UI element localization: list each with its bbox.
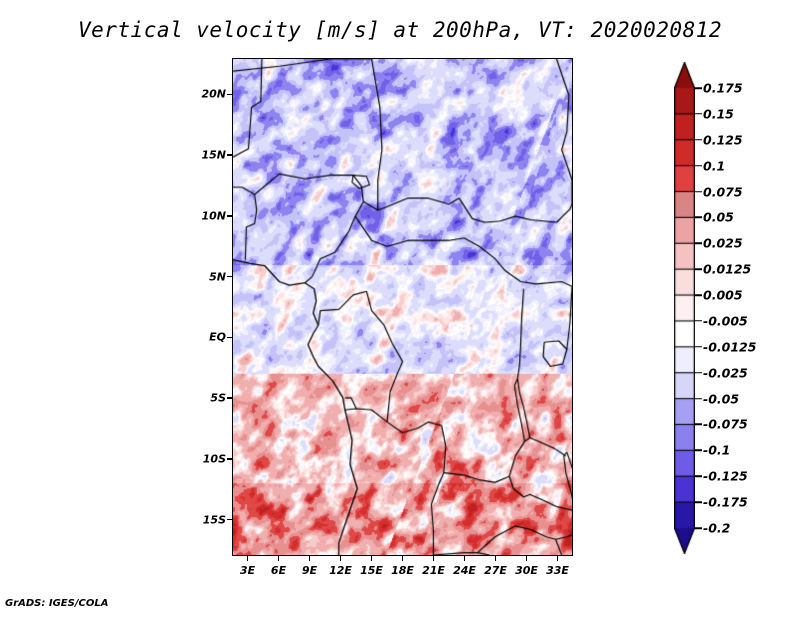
lon-tick-mark (557, 556, 559, 561)
colorbar-tick-mark (695, 501, 702, 503)
lon-tick-label: 6E (271, 564, 286, 577)
lat-tick-mark (227, 337, 232, 339)
lat-tick-mark (227, 215, 232, 217)
colorbar-tick-mark (695, 113, 702, 115)
lon-tick-label: 21E (422, 564, 445, 577)
colorbar-tick-mark (695, 217, 702, 219)
colorbar-tick-label: -0.025 (703, 365, 748, 380)
lon-tick-label: 30E (515, 564, 538, 577)
lon-tick-label: 9E (302, 564, 317, 577)
colorbar (674, 62, 695, 554)
lat-tick-mark (227, 94, 232, 96)
colorbar-tick-label: 0.075 (703, 184, 743, 199)
colorbar-tick-label: 0.005 (703, 288, 743, 303)
colorbar-tick-label: -0.125 (703, 469, 748, 484)
lat-tick-label: 10N (186, 209, 226, 222)
colorbar-tick-label: -0.2 (703, 521, 730, 536)
colorbar-tick-mark (695, 268, 702, 270)
lon-tick-mark (278, 556, 280, 561)
colorbar-tick-label: -0.175 (703, 495, 748, 510)
lon-tick-mark (402, 556, 404, 561)
colorbar-tick-mark (695, 165, 702, 167)
lon-tick-mark (309, 556, 311, 561)
colorbar-tick-label: 0.15 (703, 106, 734, 121)
lat-tick-label: 15N (186, 149, 226, 162)
colorbar-tick-mark (695, 294, 702, 296)
colorbar-gradient (674, 62, 695, 554)
colorbar-tick-label: 0.125 (703, 132, 743, 147)
colorbar-tick-mark (695, 87, 702, 89)
colorbar-tick-mark (695, 450, 702, 452)
colorbar-tick-mark (695, 398, 702, 400)
lon-tick-label: 12E (329, 564, 352, 577)
colorbar-tick-mark (695, 139, 702, 141)
lon-tick-mark (495, 556, 497, 561)
vertical-velocity-field (233, 59, 572, 555)
lat-tick-mark (227, 154, 232, 156)
colorbar-tick-label: -0.075 (703, 417, 748, 432)
lat-tick-mark (227, 397, 232, 399)
lat-tick-mark (227, 458, 232, 460)
colorbar-tick-label: 0.025 (703, 236, 743, 251)
lon-tick-mark (464, 556, 466, 561)
page-title: Vertical velocity [m/s] at 200hPa, VT: 2… (0, 18, 800, 42)
lat-tick-label: 10S (186, 452, 226, 465)
colorbar-tick-label: 0.05 (703, 210, 734, 225)
lat-tick-label: 20N (186, 88, 226, 101)
footer-credit: GrADS: IGES/COLA (5, 598, 108, 609)
colorbar-tick-label: 0.175 (703, 81, 743, 96)
lon-tick-label: 18E (391, 564, 414, 577)
lon-tick-mark (340, 556, 342, 561)
colorbar-tick-label: 0.0125 (703, 262, 751, 277)
lon-tick-label: 27E (484, 564, 507, 577)
lat-tick-mark (227, 276, 232, 278)
colorbar-tick-mark (695, 346, 702, 348)
lon-tick-mark (433, 556, 435, 561)
colorbar-tick-mark (695, 243, 702, 245)
lon-tick-mark (526, 556, 528, 561)
lat-tick-mark (227, 519, 232, 521)
colorbar-tick-mark (695, 527, 702, 529)
colorbar-tick-mark (695, 475, 702, 477)
lat-tick-label: EQ (186, 331, 226, 344)
colorbar-tick-mark (695, 320, 702, 322)
lon-tick-mark (371, 556, 373, 561)
colorbar-tick-label: -0.1 (703, 443, 730, 458)
colorbar-tick-label: -0.0125 (703, 339, 756, 354)
map-plot-area (232, 58, 573, 556)
colorbar-tick-label: -0.05 (703, 391, 739, 406)
colorbar-tick-mark (695, 191, 702, 193)
lat-tick-label: 5S (186, 392, 226, 405)
colorbar-tick-label: 0.1 (703, 158, 725, 173)
lon-tick-label: 15E (360, 564, 383, 577)
colorbar-tick-mark (695, 424, 702, 426)
lat-tick-label: 5N (186, 270, 226, 283)
colorbar-tick-label: -0.005 (703, 313, 748, 328)
colorbar-tick-mark (695, 372, 702, 374)
lon-tick-label: 33E (546, 564, 569, 577)
lon-tick-label: 3E (240, 564, 255, 577)
lon-tick-mark (247, 556, 249, 561)
lon-tick-label: 24E (453, 564, 476, 577)
lat-tick-label: 15S (186, 513, 226, 526)
